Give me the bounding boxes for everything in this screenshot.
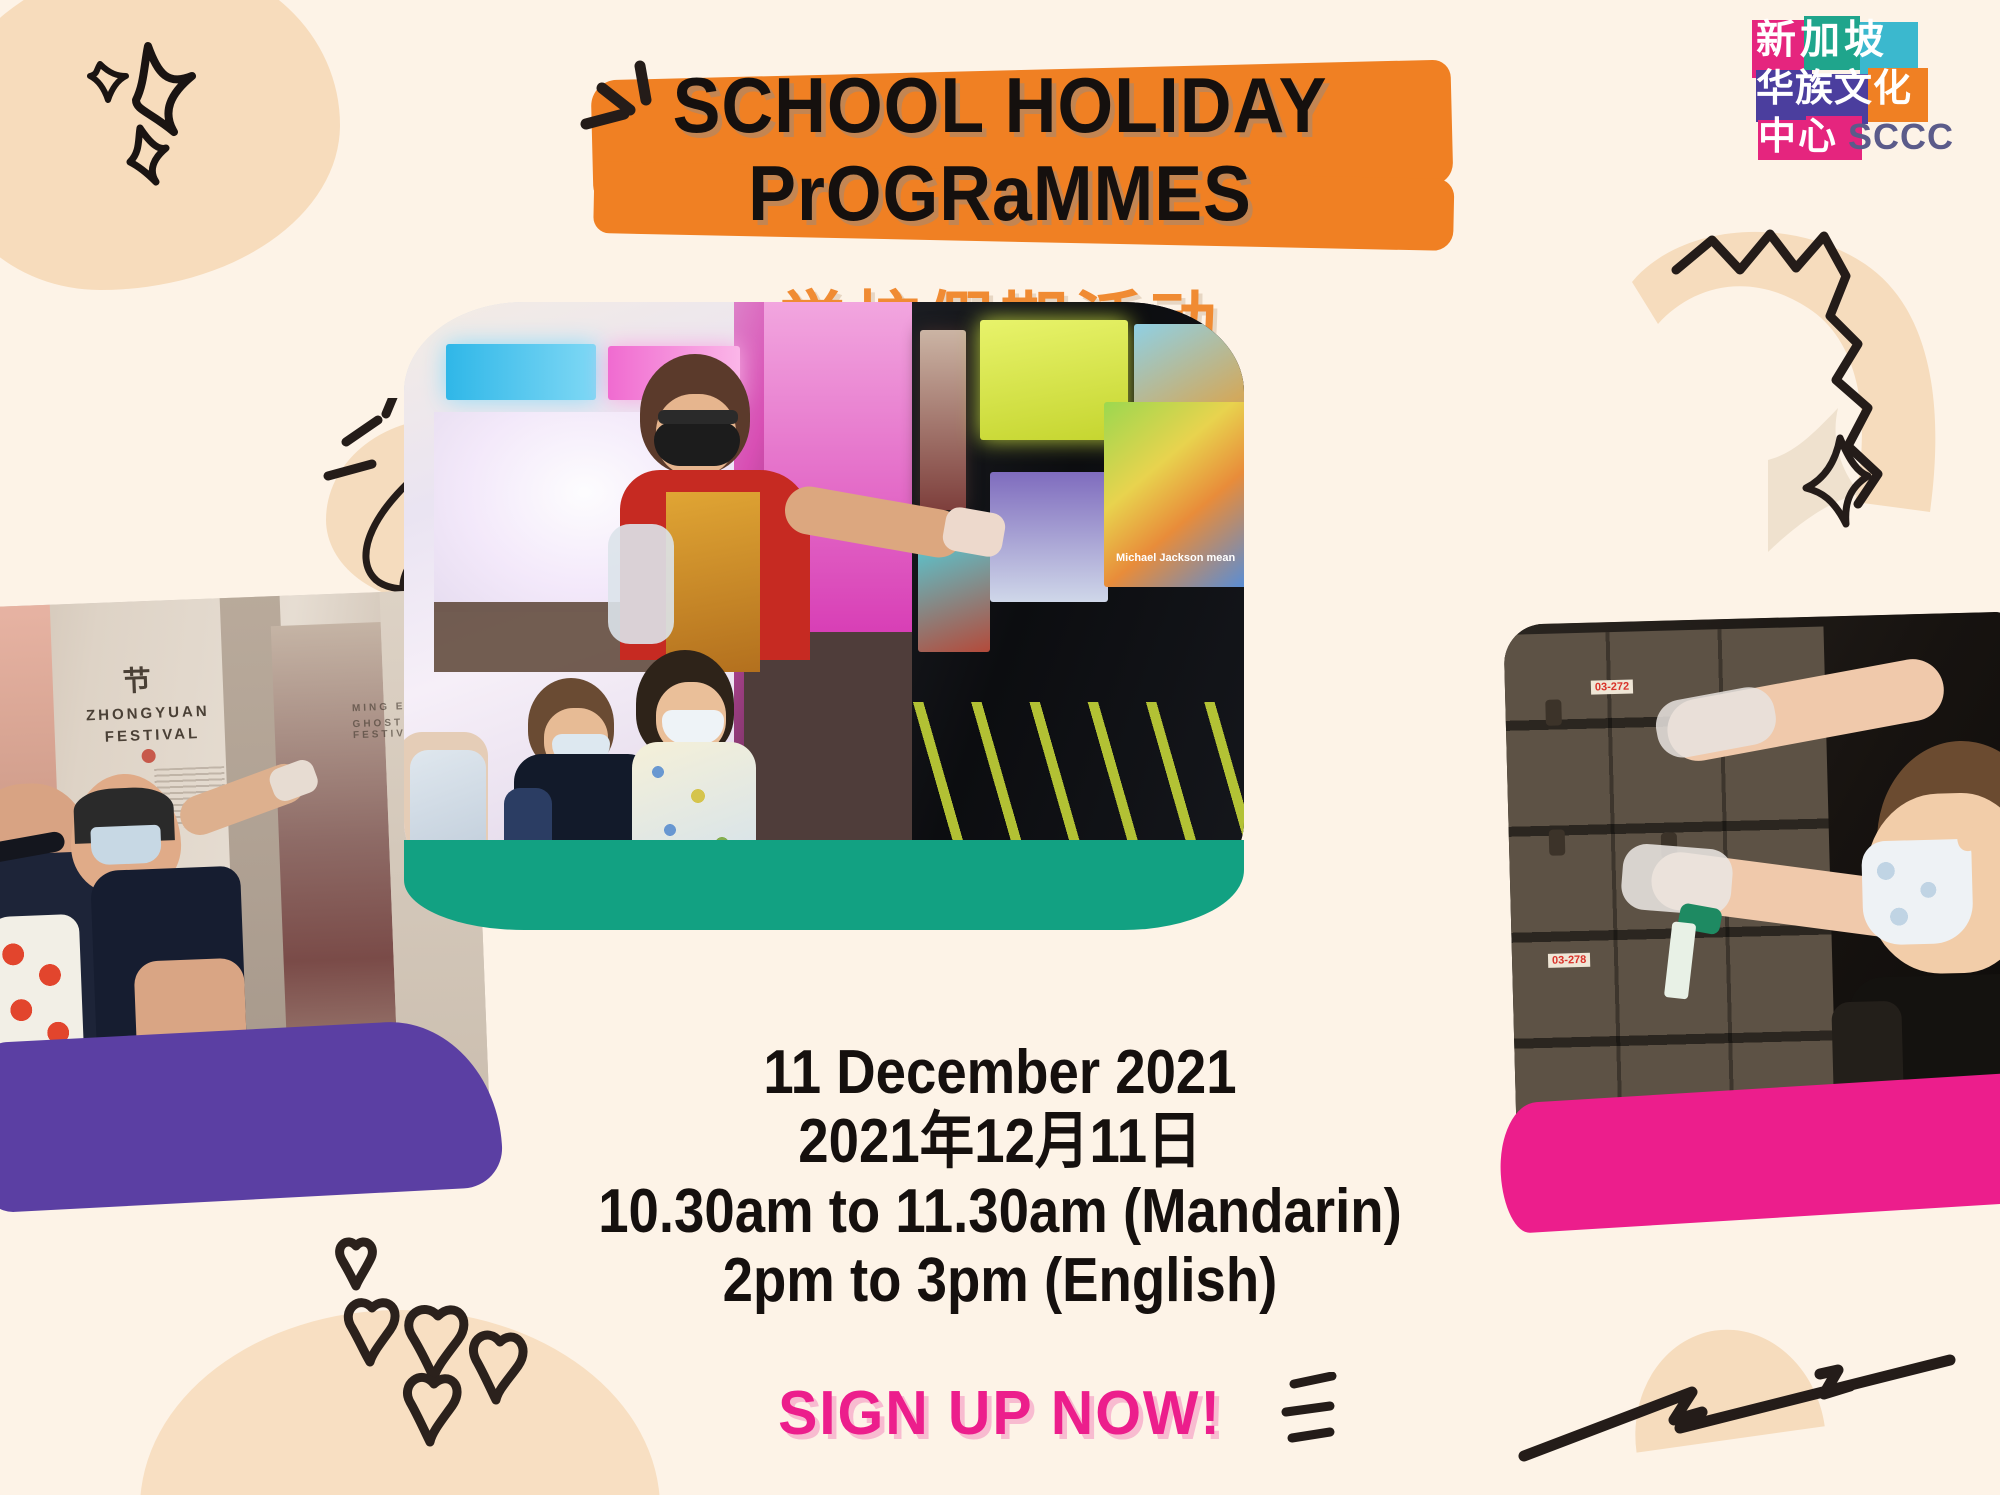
exhibit-caption-zh: 节 [122, 659, 152, 700]
logo-row-1: 新 加 坡 [1756, 20, 1884, 60]
screen-caption: Michael Jackson mean [1116, 552, 1235, 564]
logo-char-hua2: 化 [1873, 70, 1911, 108]
logo-char-wen: 文 [1834, 70, 1872, 108]
logo-row-2: 华 族 文 化 [1756, 70, 1911, 108]
logo-char-xin2: 心 [1798, 118, 1836, 156]
arc-blob-topright [1600, 212, 2000, 552]
sccc-logo[interactable]: 新 加 坡 华 族 文 化 中 心 SCCC [1748, 16, 1978, 161]
accent-blob-teal [404, 840, 1244, 930]
logo-char-jia: 加 [1800, 20, 1840, 60]
accent-blob-purple [0, 1017, 504, 1214]
locker-label-1: 03-272 [1591, 680, 1634, 695]
locker-label-2: 03-278 [1548, 953, 1591, 968]
logo-acronym: SCCC [1848, 116, 1954, 158]
photo-guide-with-children: Michael Jackson mean [404, 302, 1244, 902]
logo-char-xin: 新 [1756, 20, 1796, 60]
logo-char-hua: 华 [1756, 70, 1794, 108]
event-time-english: 2pm to 3pm (English) [120, 1246, 1880, 1315]
logo-char-zhong: 中 [1758, 118, 1796, 156]
logo-row-3: 中 心 SCCC [1758, 116, 1954, 158]
cta-tick-marks-icon [1272, 1372, 1352, 1452]
sign-up-button[interactable]: SIGN UP NOW! [50, 1378, 1950, 1449]
logo-char-po: 坡 [1844, 20, 1884, 60]
poster-canvas: SCHOOL HOLIDAY PrOGRaMMES 学校假期活动 新 加 坡 华… [0, 0, 2000, 1495]
logo-char-zu: 族 [1795, 70, 1833, 108]
page-title-line1: SCHOOL HOLIDAY [80, 60, 1920, 151]
page-title-line2: PrOGRaMMES [80, 148, 1920, 239]
